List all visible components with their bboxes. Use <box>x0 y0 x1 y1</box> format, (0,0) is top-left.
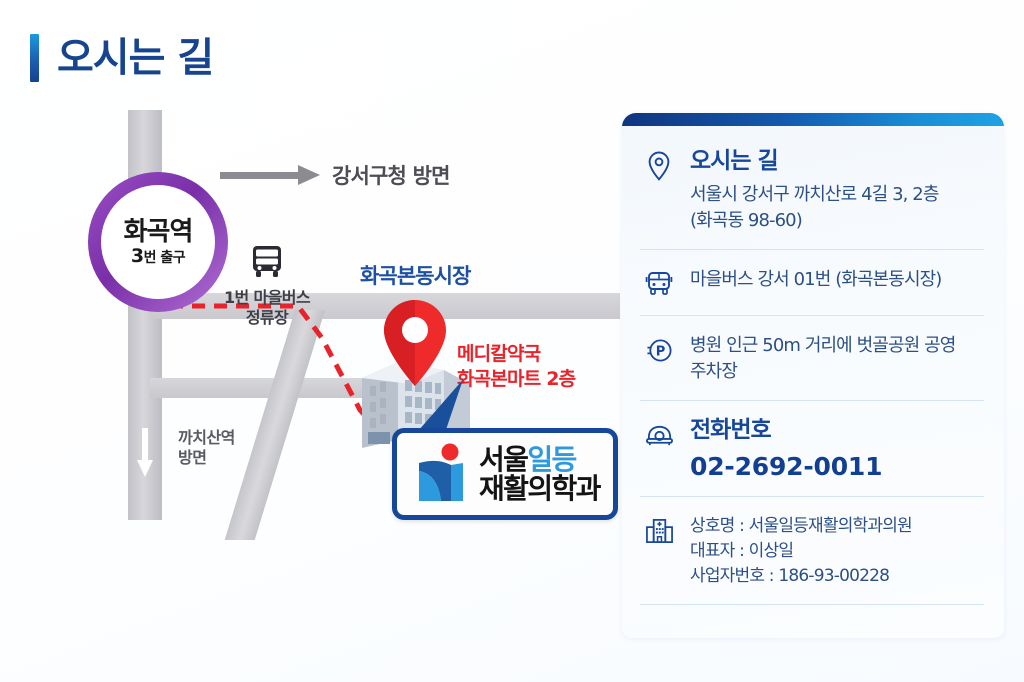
info-heading-address: 오시는 길 <box>690 149 982 174</box>
parking-icon: P <box>644 335 674 365</box>
info-text-address-line2: (화곡동 98-60) <box>690 208 982 234</box>
info-text-parking-line2: 주차장 <box>690 359 982 385</box>
map-label-market: 화곡본동시장 <box>360 260 471 290</box>
clinic-logo-line1-a: 서울 <box>479 443 527 476</box>
map-label-pharmacy-line2: 화곡본마트 2층 <box>457 367 575 392</box>
map-label-bus-stop-line1: 1번 마을버스 <box>187 288 347 308</box>
map-pin-marker[interactable] <box>384 300 446 386</box>
map-label-kkachisan: 까치산역 방면 <box>178 428 235 469</box>
info-row-phone[interactable]: 전화번호 02-2692-0011 <box>640 401 984 497</box>
info-row-parking: P 병원 인근 50m 거리에 벗골공원 공영 주차장 <box>640 316 984 401</box>
info-row-business: 상호명 : 서울일등재활의학과의원 대표자 : 이상일 사업자번호 : 186-… <box>640 497 984 605</box>
clinic-logo-text: 서울일등 재활의학과 <box>479 445 600 503</box>
clinic-logo-mark-icon <box>411 443 469 505</box>
info-row-address: 오시는 길 서울시 강서구 까치산로 4길 3, 2층 (화곡동 98-60) <box>640 132 984 250</box>
info-business-name: 상호명 : 서울일등재활의학과의원 <box>690 514 982 539</box>
info-phone-number[interactable]: 02-2692-0011 <box>690 453 982 481</box>
panel-body: 오시는 길 서울시 강서구 까치산로 4길 3, 2층 (화곡동 98-60) <box>622 126 1004 615</box>
map-label-pharmacy: 메디칼약국 화곡본마트 2층 <box>457 342 575 391</box>
arrow-down-icon <box>137 428 153 480</box>
road-diagonal <box>225 310 325 540</box>
map-label-kkachisan-line1: 까치산역 <box>178 428 235 448</box>
info-text-parking-line1: 병원 인근 50m 거리에 벗골공원 공영 <box>690 333 982 359</box>
clinic-logo-line2: 재활의학과 <box>479 474 600 503</box>
location-map: 화곡역 3번 출구 강서구청 방면 까치산역 방면 1번 마을버스 정류장 화곡… <box>60 110 620 550</box>
info-heading-phone: 전화번호 <box>690 418 982 443</box>
station-exit-suffix: 번 출구 <box>144 250 186 266</box>
info-row-bus: 마을버스 강서 01번 (화곡본동시장) <box>640 250 984 316</box>
info-business-number: 사업자번호 : 186-93-00228 <box>690 564 982 589</box>
page-title-block: 오시는 길 <box>30 34 213 82</box>
info-text-address-line1: 서울시 강서구 까치산로 4길 3, 2층 <box>690 182 982 208</box>
info-panel: 오시는 길 서울시 강서구 까치산로 4길 3, 2층 (화곡동 98-60) <box>622 113 1004 638</box>
hospital-building-icon <box>644 516 674 546</box>
station-exit-number: 3 <box>131 245 144 267</box>
arrow-right-icon <box>220 168 325 182</box>
info-text-bus: 마을버스 강서 01번 (화곡본동시장) <box>690 267 982 293</box>
map-pin-icon <box>644 151 674 181</box>
svg-text:P: P <box>655 345 665 360</box>
map-label-pharmacy-line1: 메디칼약국 <box>457 342 575 367</box>
map-label-kkachisan-line2: 방면 <box>178 448 235 468</box>
clinic-logo-line1-b: 일등 <box>527 443 575 476</box>
map-label-bus-stop: 1번 마을버스 정류장 <box>187 288 347 328</box>
title-accent-bar <box>30 34 39 82</box>
station-name: 화곡역 <box>124 219 193 245</box>
map-label-bus-stop-line2: 정류장 <box>187 308 347 328</box>
clinic-logo-line1: 서울일등 <box>479 445 600 474</box>
info-business-representative: 대표자 : 이상일 <box>690 539 982 564</box>
road-horizontal-lower <box>150 378 365 398</box>
bus-icon <box>250 245 284 281</box>
bus-icon <box>644 269 674 299</box>
panel-header-accent-bar <box>622 113 1004 126</box>
clinic-logo-badge[interactable]: 서울일등 재활의학과 <box>392 428 618 520</box>
page-title: 오시는 길 <box>57 38 213 78</box>
station-exit: 3번 출구 <box>131 247 185 266</box>
telephone-icon <box>644 420 674 450</box>
map-label-gangseo: 강서구청 방면 <box>332 160 450 190</box>
